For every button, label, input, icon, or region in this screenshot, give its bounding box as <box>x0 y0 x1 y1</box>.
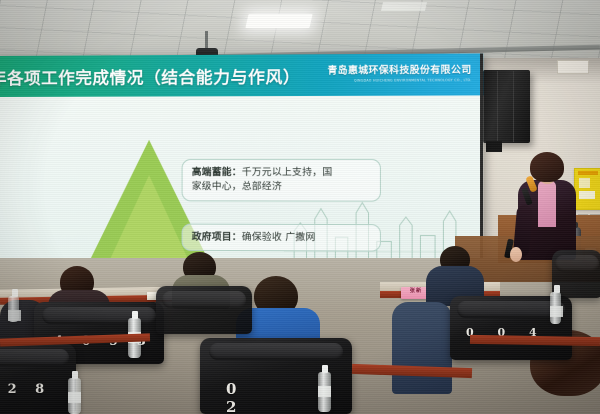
water-bottle-5[interactable] <box>8 296 19 322</box>
conference-room-photo: 年各项工作完成情况（结合能力与作风） 青岛惠城环保科技股份有限公司 QINGDA… <box>0 0 600 414</box>
slide-box-1-text2: 家级中心，总部经济 <box>192 181 282 192</box>
company-logo: 青岛惠城环保科技股份有限公司 QINGDAO HUICHENG ENVIRONM… <box>328 62 472 83</box>
ceiling-light-panel-secondary <box>381 2 427 11</box>
slide-box-2: 政府项目：确保验收 广撒网 <box>182 224 381 252</box>
presenter-hair <box>530 152 564 182</box>
slide-title: 年各项工作完成情况（结合能力与作风） <box>0 64 294 89</box>
water-bottle-4[interactable] <box>550 292 561 324</box>
chair-number-02: 0 2 <box>226 380 352 414</box>
chair-back-mid[interactable] <box>156 286 252 334</box>
wall-speaker <box>483 70 530 143</box>
poster-block-1 <box>579 178 590 188</box>
wall-speaker-bracket <box>486 141 502 152</box>
slide-box-2-key: 政府项目： <box>192 232 242 243</box>
company-name-cn: 青岛惠城环保科技股份有限公司 <box>328 62 472 77</box>
company-name-en: QINGDAO HUICHENG ENVIRONMENTAL TECHNOLOG… <box>328 78 472 83</box>
wall-notice-plate <box>557 60 589 74</box>
slide-header-band: 年各项工作完成情况（结合能力与作风） 青岛惠城环保科技股份有限公司 QINGDA… <box>0 53 483 97</box>
chair-number-028: 0 2 8 <box>0 382 51 397</box>
ceiling-light-panel <box>245 14 312 28</box>
projection-screen: 年各项工作完成情况（结合能力与作风） 青岛惠城环保科技股份有限公司 QINGDA… <box>0 53 483 272</box>
poster-header-bar <box>578 171 598 175</box>
presenter-shirt <box>538 181 556 227</box>
water-bottle-2[interactable] <box>68 378 81 414</box>
slide-box-1-text: 千万元以上支持，国 <box>242 167 333 178</box>
presenter-hand <box>510 247 522 262</box>
slide-box-2-text: 确保验收 广撒网 <box>242 232 316 243</box>
slide-body: 高端蓄能：千万元以上支持，国 家级中心，总部经济 政府项目：确保验收 广撒网 常… <box>0 95 483 272</box>
attendee-torso-7-puffer <box>392 302 452 394</box>
slide-box-1: 高端蓄能：千万元以上支持，国 家级中心，总部经济 <box>182 159 381 202</box>
yellow-poster <box>574 168 600 210</box>
chair-back-left-front[interactable]: 0 2 8 <box>0 344 76 414</box>
slide-box-1-key: 高端蓄能： <box>192 167 242 178</box>
poster-block-2 <box>579 191 595 199</box>
water-bottle-3[interactable] <box>318 372 331 412</box>
